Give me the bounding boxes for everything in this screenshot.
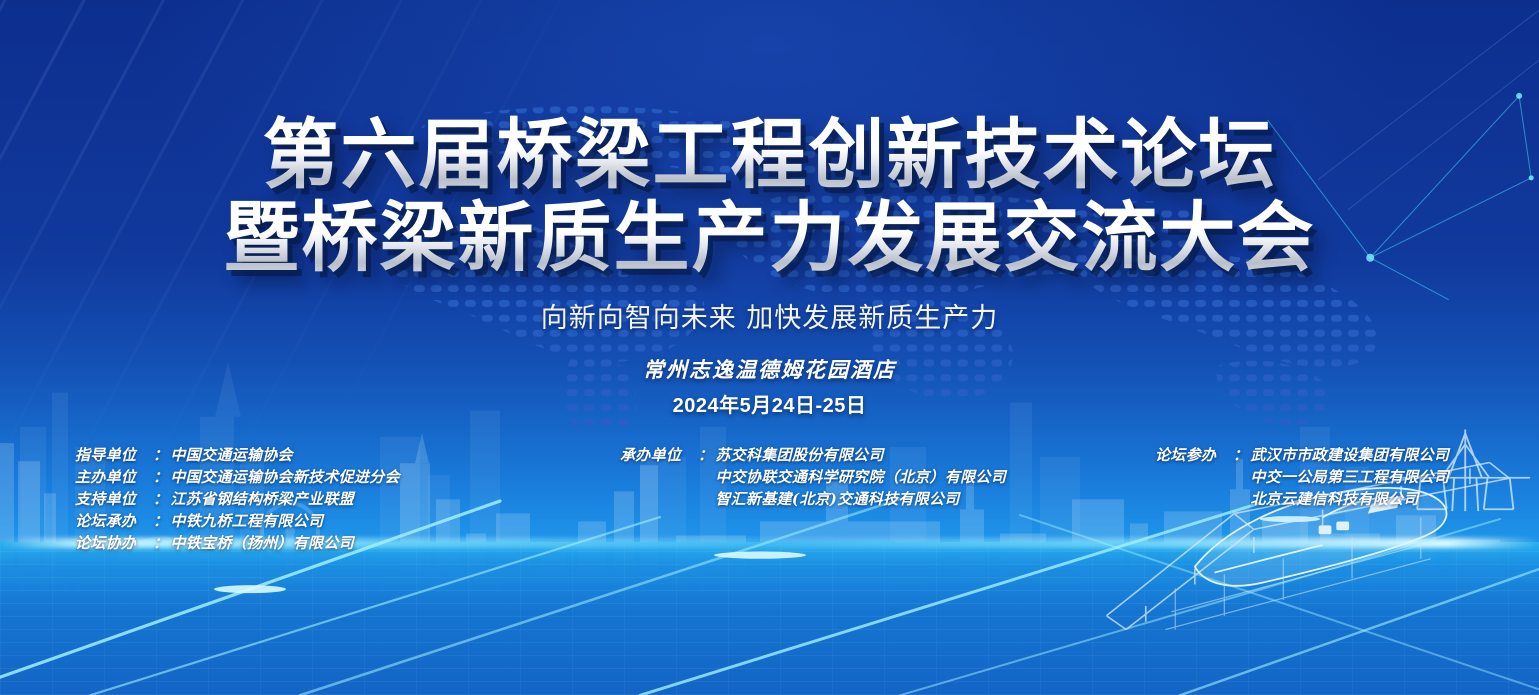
organizer-column-right: 论坛参办 ： 武汉市市政建设集团有限公司 论坛参办 ： 中交一公局第三工程有限公… — [1155, 444, 1449, 510]
organizer-value: 北京云建信科技有限公司 — [1250, 488, 1418, 510]
organizer-value: 苏交科集团股份有限公司 — [715, 444, 883, 466]
organizer-colon: ： — [153, 466, 168, 488]
organizer-colon: ： — [153, 532, 168, 554]
conference-banner: 第六届桥梁工程创新技术论坛 暨桥梁新质生产力发展交流大会 向新向智向未来 加快发… — [0, 0, 1539, 695]
organizer-colon: ： — [153, 444, 168, 466]
organizer-label: 论坛协办 — [75, 532, 153, 554]
organizer-row: 论坛参办 ： 武汉市市政建设集团有限公司 — [1155, 444, 1449, 466]
organizer-row: 指导单位 ： 中国交通运输协会 — [75, 444, 400, 466]
organizer-colon: ： — [153, 488, 168, 510]
organizer-column-center: 承办单位 ： 苏交科集团股份有限公司 承办单位 ： 中交协联交通科学研究院（北京… — [620, 444, 1006, 510]
organizer-value: 武汉市市政建设集团有限公司 — [1250, 444, 1449, 466]
organizer-row: 论坛参办 ： 中交一公局第三工程有限公司 — [1155, 466, 1449, 488]
organizer-label: 主办单位 — [75, 466, 153, 488]
title-line-1: 第六届桥梁工程创新技术论坛 — [0, 113, 1539, 196]
organizer-label: 指导单位 — [75, 444, 153, 466]
organizer-row: 承办单位 ： 中交协联交通科学研究院（北京）有限公司 — [620, 466, 1006, 488]
venue-name: 常州志逸温德姆花园酒店 — [0, 354, 1539, 384]
organizer-column-left: 指导单位 ： 中国交通运输协会 主办单位 ： 中国交通运输协会新技术促进分会 支… — [75, 444, 400, 554]
main-title: 第六届桥梁工程创新技术论坛 暨桥梁新质生产力发展交流大会 — [0, 113, 1539, 279]
event-date: 2024年5月24日-25日 — [0, 389, 1539, 418]
subtitle-slogan: 向新向智向未来 加快发展新质生产力 — [0, 296, 1539, 335]
organizer-value: 江苏省钢结构桥梁产业联盟 — [170, 488, 354, 510]
organizer-row: 支持单位 ： 江苏省钢结构桥梁产业联盟 — [75, 488, 400, 510]
organizer-label: 支持单位 — [75, 488, 153, 510]
organizer-value: 中交协联交通科学研究院（北京）有限公司 — [715, 466, 1006, 488]
organizer-row: 论坛参办 ： 北京云建信科技有限公司 — [1155, 488, 1449, 510]
organizer-row: 承办单位 ： 智汇新基建(北京)交通科技有限公司 — [620, 488, 1006, 510]
organizer-value: 中铁宝桥（扬州）有限公司 — [170, 532, 354, 554]
organizer-row: 主办单位 ： 中国交通运输协会新技术促进分会 — [75, 466, 400, 488]
venue-block: 常州志逸温德姆花园酒店 2024年5月24日-25日 — [0, 354, 1539, 418]
organizer-value: 中国交通运输协会 — [170, 444, 292, 466]
organizer-value: 中国交通运输协会新技术促进分会 — [170, 466, 400, 488]
banner-content: 第六届桥梁工程创新技术论坛 暨桥梁新质生产力发展交流大会 向新向智向未来 加快发… — [0, 0, 1539, 695]
organizer-colon: ： — [698, 444, 713, 466]
organizer-label: 承办单位 — [620, 444, 698, 466]
organizer-value: 智汇新基建(北京)交通科技有限公司 — [715, 488, 959, 510]
organizer-row: 论坛协办 ： 中铁宝桥（扬州）有限公司 — [75, 532, 400, 554]
organizer-colon: ： — [1233, 444, 1248, 466]
organizer-colon: ： — [153, 510, 168, 532]
organizer-row: 论坛承办 ： 中铁九桥工程有限公司 — [75, 510, 400, 532]
organizer-value: 中铁九桥工程有限公司 — [170, 510, 323, 532]
title-line-2: 暨桥梁新质生产力发展交流大会 — [0, 196, 1539, 279]
organizer-label: 论坛承办 — [75, 510, 153, 532]
organizer-value: 中交一公局第三工程有限公司 — [1250, 466, 1449, 488]
organizer-section: 指导单位 ： 中国交通运输协会 主办单位 ： 中国交通运输协会新技术促进分会 支… — [0, 444, 1539, 574]
organizer-row: 承办单位 ： 苏交科集团股份有限公司 — [620, 444, 1006, 466]
organizer-label: 论坛参办 — [1155, 444, 1233, 466]
